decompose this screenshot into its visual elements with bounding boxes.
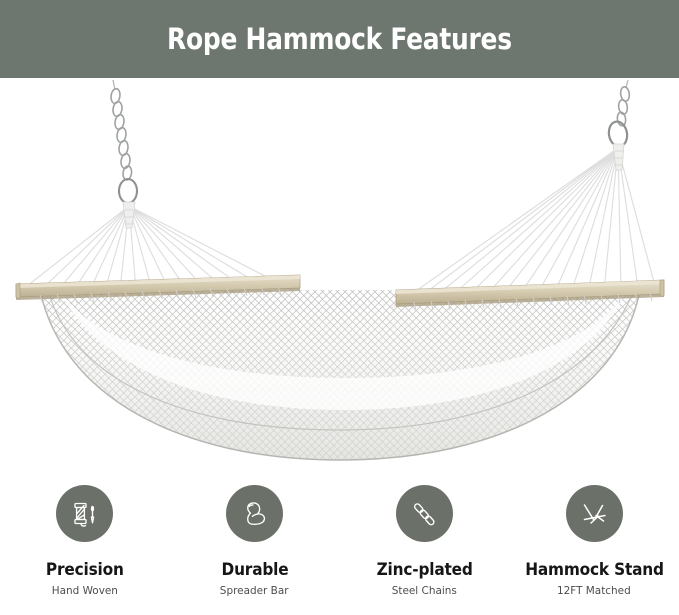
chain-link-icon: [407, 497, 441, 531]
features-strip: Precision Hand Woven Durable Spreader Ba…: [0, 485, 679, 615]
page-title: Rope Hammock Features: [167, 22, 512, 56]
feature-item-precision: Precision Hand Woven: [2, 485, 167, 597]
feature-subtitle: Steel Chains: [392, 584, 457, 597]
feature-title: Zinc-plated: [376, 561, 472, 580]
header-banner: Rope Hammock Features: [0, 0, 679, 78]
feature-badge-hammock-stand: [566, 485, 623, 542]
product-hero-image: [0, 78, 679, 478]
feature-badge-durable: [226, 485, 283, 542]
left-rope-clew: [123, 202, 135, 228]
feature-title: Durable: [221, 561, 288, 580]
right-hanging-chain: [607, 80, 630, 148]
rope-net-bed: [30, 283, 650, 473]
thread-spool-needle-icon: [68, 497, 102, 531]
feature-title: Hammock Stand: [525, 561, 664, 580]
feature-title: Precision: [46, 561, 124, 580]
feature-badge-precision: [56, 485, 113, 542]
feature-badge-zinc-plated: [396, 485, 453, 542]
rope-hammock-illustration: [0, 78, 679, 478]
feature-subtitle: 12FT Matched: [557, 584, 631, 597]
flexed-bicep-icon: [238, 497, 272, 531]
feature-item-durable: Durable Spreader Bar: [172, 485, 337, 597]
feature-item-hammock-stand: Hammock Stand 12FT Matched: [512, 485, 677, 597]
left-hanging-chain: [110, 80, 137, 203]
hammock-stand-icon: [577, 497, 611, 531]
feature-subtitle: Hand Woven: [52, 584, 118, 597]
feature-subtitle: Spreader Bar: [220, 584, 289, 597]
feature-item-zinc-plated: Zinc-plated Steel Chains: [342, 485, 507, 597]
